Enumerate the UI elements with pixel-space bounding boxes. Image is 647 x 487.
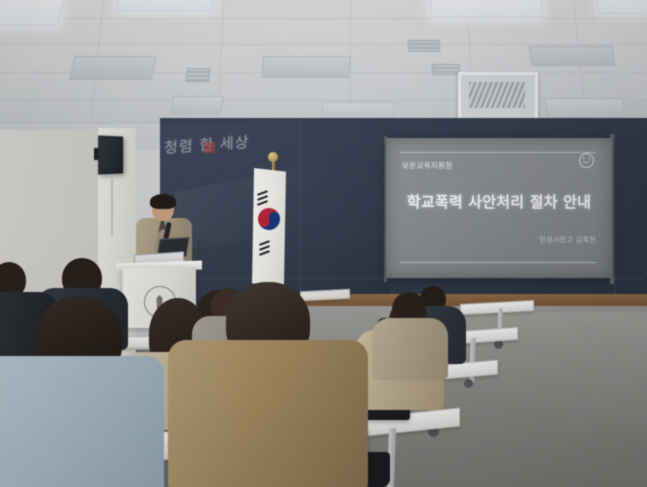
lecture-hall-photo: 청렴 한 세상 보은교육지원청 학교폭력 사안처리 절차 안내 민성시민고 김록… — [0, 0, 647, 487]
ceiling-light-panel — [116, 0, 216, 12]
ceiling-diffuser-panel — [170, 96, 223, 114]
ceiling-diffuser-panel — [322, 102, 395, 119]
wall-seam — [300, 120, 301, 300]
projector-lens — [469, 82, 525, 108]
ceiling-diffuser-panel — [529, 46, 616, 66]
korean-flag-icon — [252, 168, 286, 288]
wall-banner: 청렴 한 세상 — [158, 126, 270, 174]
slide-divider-top — [400, 152, 596, 153]
ceiling-vent — [408, 40, 441, 52]
slide-divider-bottom — [400, 262, 596, 263]
presenter-hair — [150, 194, 176, 209]
ceiling-light-panel — [593, 0, 647, 14]
ceiling-vent — [185, 68, 211, 82]
speaker-grill — [101, 140, 120, 171]
wall-seam — [164, 278, 644, 279]
ceiling-light-panel — [429, 0, 544, 18]
speaker-conduit — [111, 174, 113, 236]
audience-torso — [372, 318, 448, 380]
ceiling-diffuser-panel — [545, 98, 625, 118]
slide-presenter-credit: 민성시민고 김록현 — [540, 235, 596, 245]
ceiling-diffuser-panel — [69, 56, 156, 80]
slide-organization-label: 보은교육지원청 — [402, 160, 452, 171]
ceiling-diffuser-panel — [261, 56, 351, 78]
projection-screen: 보은교육지원청 학교폭력 사안처리 절차 안내 민성시민고 김록현 — [386, 138, 612, 278]
audience-torso — [0, 356, 164, 487]
smiley-face-icon — [579, 153, 594, 168]
wall-banner-seal — [204, 142, 215, 153]
ceiling — [0, 0, 647, 132]
audience-torso — [168, 340, 368, 487]
table-caster — [464, 379, 473, 388]
slide-title: 학교폭력 사안처리 절차 안내 — [386, 191, 612, 212]
ceiling-vent — [432, 64, 461, 75]
wall-speaker-icon — [98, 135, 123, 174]
ceiling-light-panel — [0, 0, 67, 26]
taeguk-symbol — [255, 205, 284, 234]
projector — [458, 72, 538, 122]
flag-pole-finial — [268, 152, 278, 162]
wall-seam — [615, 128, 616, 298]
